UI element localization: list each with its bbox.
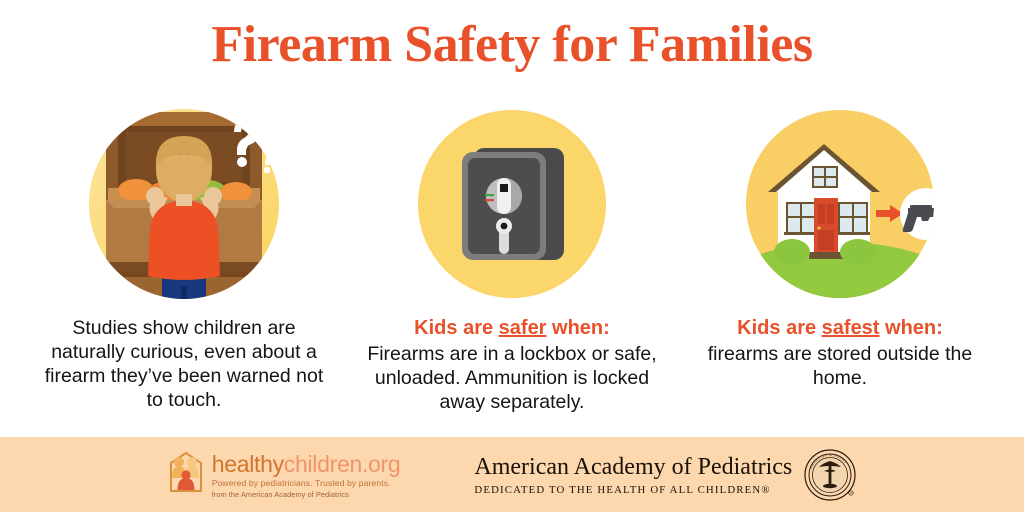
panel-3-headline-suffix: when: [879, 317, 942, 339]
panel-1-body: Studies show children are naturally curi… [45, 317, 324, 411]
panel-2-headline-emphasis: safer [499, 317, 547, 339]
panel-3-headline-emphasis: safest [822, 317, 880, 339]
healthychildren-tagline-primary: Powered by pediatricians. Trusted by par… [212, 478, 401, 488]
house-with-firearm-outside-illustration [740, 104, 940, 304]
aap-logo[interactable]: American Academy of Pediatrics DEDICATED… [474, 449, 856, 501]
panel-safer-lockbox: Kids are safer when: Firearms are in a l… [352, 104, 672, 414]
aap-name: American Academy of Pediatrics [474, 453, 792, 481]
panel-1-caption: Studies show children are naturally curi… [34, 316, 334, 412]
locked-safe-icon [412, 104, 612, 304]
panel-2-headline-prefix: Kids are [414, 317, 498, 339]
panel-2-caption: Kids are safer when: Firearms are in a l… [362, 316, 662, 414]
panel-3-headline: Kids are safest when: [690, 316, 990, 341]
panel-3-caption: Kids are safest when: firearms are store… [690, 316, 990, 390]
panel-3-body: firearms are stored outside the home. [708, 343, 972, 389]
healthychildren-wordmark: healthychildren.org [212, 452, 401, 476]
svg-text:R: R [850, 492, 852, 495]
hc-word-childrenorg: children.org [284, 451, 401, 477]
panel-safest-outside-home: Kids are safest when: firearms are store… [680, 104, 1000, 414]
house-arrow-handgun-icon [740, 104, 940, 304]
healthychildren-family-icon [168, 451, 204, 493]
healthychildren-logo[interactable]: healthychildren.org Powered by pediatric… [168, 451, 401, 499]
panel-2-headline: Kids are safer when: [362, 316, 662, 341]
panel-2-headline-suffix: when: [546, 317, 609, 339]
healthychildren-tagline-secondary: from the American Academy of Pediatrics [212, 490, 401, 499]
panel-child-curiosity: Studies show children are naturally curi… [24, 104, 344, 414]
child-at-dresser-illustration [84, 104, 284, 304]
footer-bar: healthychildren.org Powered by pediatric… [0, 437, 1024, 512]
child-at-dresser-icon [84, 104, 284, 304]
panel-3-headline-prefix: Kids are [737, 317, 821, 339]
panels-row: Studies show children are naturally curi… [0, 104, 1024, 414]
panel-2-body: Firearms are in a lockbox or safe, unloa… [367, 343, 656, 413]
page-title: Firearm Safety for Families [0, 18, 1024, 73]
hc-word-healthy: healthy [212, 451, 284, 477]
aap-seal-icon: AMERICAN ACADEMY R [804, 449, 856, 501]
gun-safe-illustration [412, 104, 612, 304]
aap-tagline: DEDICATED TO THE HEALTH OF ALL CHILDREN® [474, 484, 792, 496]
